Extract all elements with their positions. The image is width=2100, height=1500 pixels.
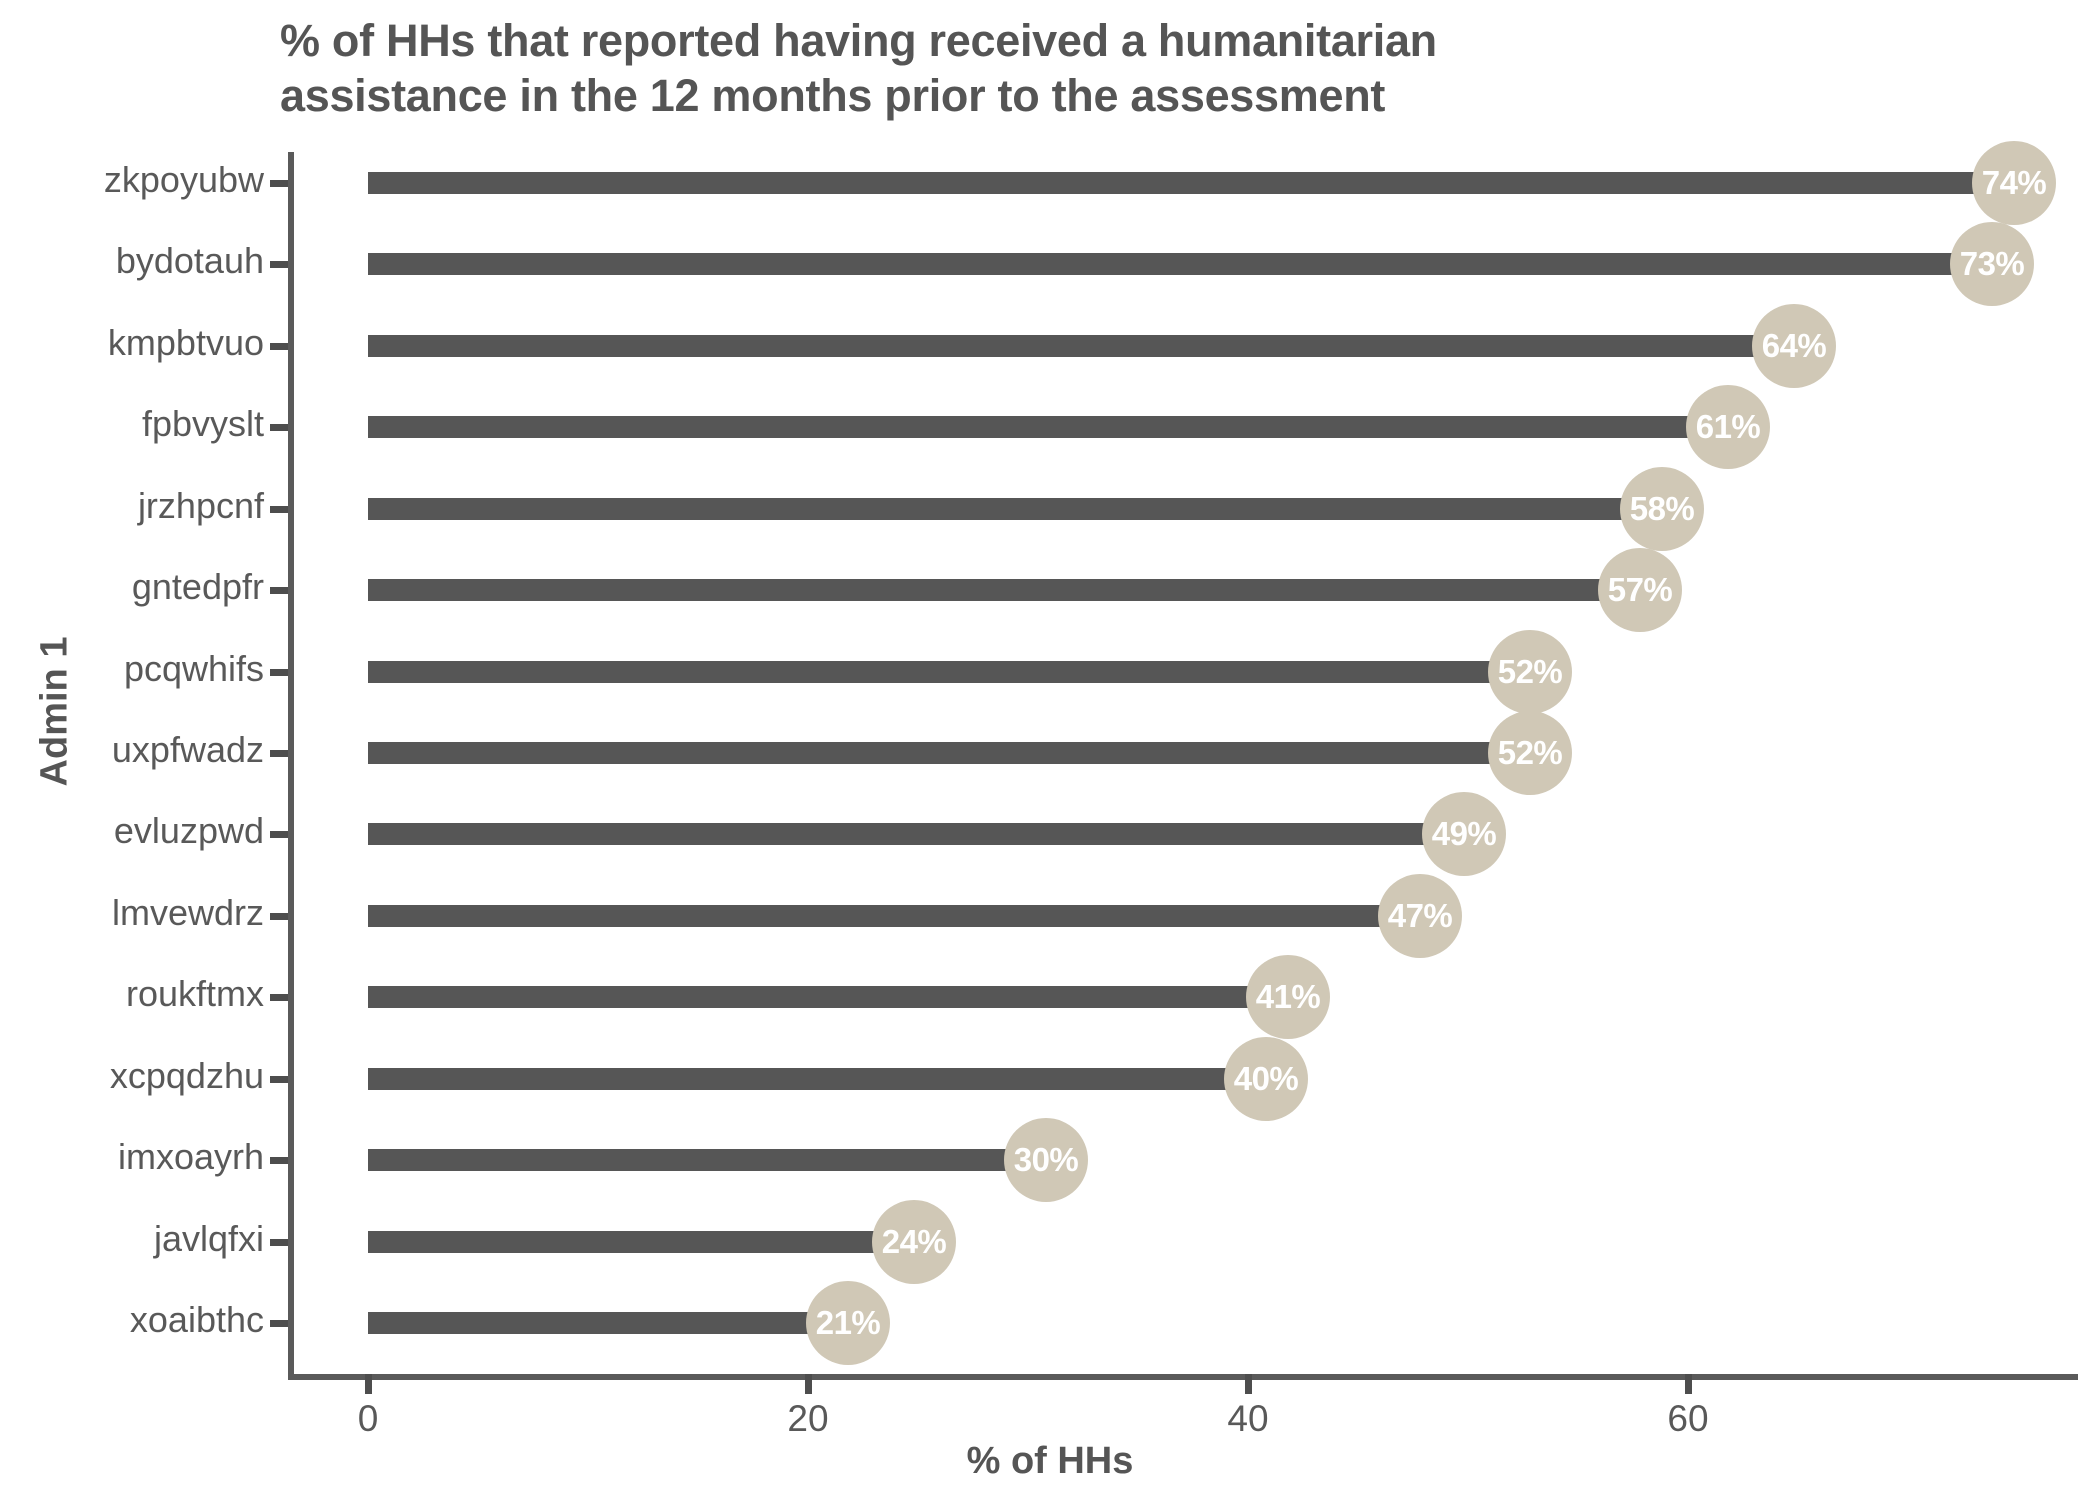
y-axis-tick — [270, 180, 288, 187]
x-axis-tick-label: 60 — [1667, 1398, 1708, 1440]
bar[interactable] — [368, 823, 1446, 845]
y-axis-category-label: zkpoyubw — [104, 159, 264, 201]
y-axis-category-label: kmpbtvuo — [108, 322, 264, 364]
data-point-marker[interactable]: 47% — [1378, 874, 1462, 958]
bar[interactable] — [368, 1149, 1028, 1171]
bar[interactable] — [368, 416, 1710, 438]
x-axis-tick — [365, 1374, 372, 1394]
data-point-marker[interactable]: 64% — [1752, 304, 1836, 388]
bar[interactable] — [368, 335, 1776, 357]
bar[interactable] — [368, 661, 1512, 683]
y-axis-tick — [270, 669, 288, 676]
y-axis-tick — [270, 424, 288, 431]
y-axis-category-label: xoaibthc — [130, 1299, 264, 1341]
y-axis-category-label: roukftmx — [126, 973, 264, 1015]
y-axis-category-label: fpbvyslt — [142, 403, 264, 445]
y-axis-category-label: javlqfxi — [154, 1218, 264, 1260]
y-axis-category-label: imxoayrh — [118, 1136, 264, 1178]
y-axis-tick — [270, 1320, 288, 1327]
y-axis-tick — [270, 1157, 288, 1164]
y-axis-tick — [270, 994, 288, 1001]
y-axis-category-label: gntedpfr — [132, 566, 264, 608]
data-point-marker[interactable]: 58% — [1620, 467, 1704, 551]
y-axis-category-label: evluzpwd — [114, 810, 264, 852]
y-axis-tick — [270, 506, 288, 513]
y-axis-category-label: jrzhpcnf — [138, 485, 264, 527]
y-axis-title: Admin 1 — [33, 637, 76, 787]
data-point-marker[interactable]: 52% — [1488, 630, 1572, 714]
bar[interactable] — [368, 1068, 1248, 1090]
y-axis-tick — [270, 1239, 288, 1246]
y-axis-tick — [270, 913, 288, 920]
data-point-marker[interactable]: 21% — [806, 1281, 890, 1365]
y-axis-tick — [270, 831, 288, 838]
bar[interactable] — [368, 1231, 896, 1253]
y-axis-tick — [270, 261, 288, 268]
x-axis-tick — [805, 1374, 812, 1394]
y-axis-category-label: bydotauh — [116, 240, 264, 282]
y-axis-tick — [270, 587, 288, 594]
x-axis-tick — [1685, 1374, 1692, 1394]
y-axis-category-label: pcqwhifs — [124, 648, 264, 690]
bar[interactable] — [368, 986, 1270, 1008]
y-axis-category-label: lmvewdrz — [112, 892, 264, 934]
data-point-marker[interactable]: 41% — [1246, 955, 1330, 1039]
y-axis-category-label: uxpfwadz — [112, 729, 264, 771]
chart-title: % of HHs that reported having received a… — [280, 14, 1840, 124]
data-point-marker[interactable]: 61% — [1686, 385, 1770, 469]
x-axis-tick-label: 0 — [358, 1398, 379, 1440]
bar[interactable] — [368, 1312, 830, 1334]
data-point-marker[interactable]: 24% — [872, 1200, 956, 1284]
bar[interactable] — [368, 253, 1974, 275]
x-axis-title: % of HHs — [0, 1440, 2100, 1483]
chart-root: % of HHs that reported having received a… — [0, 0, 2100, 1500]
bar[interactable] — [368, 905, 1402, 927]
data-point-marker[interactable]: 57% — [1598, 548, 1682, 632]
data-point-marker[interactable]: 49% — [1422, 792, 1506, 876]
data-point-marker[interactable]: 30% — [1004, 1118, 1088, 1202]
data-point-marker[interactable]: 52% — [1488, 711, 1572, 795]
x-axis-tick-label: 40 — [1227, 1398, 1268, 1440]
bar[interactable] — [368, 579, 1622, 601]
bar[interactable] — [368, 742, 1512, 764]
plot-area: 74%73%64%61%58%57%52%52%49%47%41%40%30%2… — [288, 152, 2100, 1374]
bar[interactable] — [368, 498, 1644, 520]
bar[interactable] — [368, 172, 1996, 194]
data-point-marker[interactable]: 40% — [1224, 1037, 1308, 1121]
y-axis-tick — [270, 750, 288, 757]
x-axis-tick — [1245, 1374, 1252, 1394]
data-point-marker[interactable]: 74% — [1972, 141, 2056, 225]
y-axis-category-label: xcpqdzhu — [110, 1055, 264, 1097]
data-point-marker[interactable]: 73% — [1950, 222, 2034, 306]
y-axis-tick — [270, 1076, 288, 1083]
y-axis-tick — [270, 343, 288, 350]
x-axis-tick-label: 20 — [787, 1398, 828, 1440]
x-axis-line — [288, 1374, 2078, 1380]
